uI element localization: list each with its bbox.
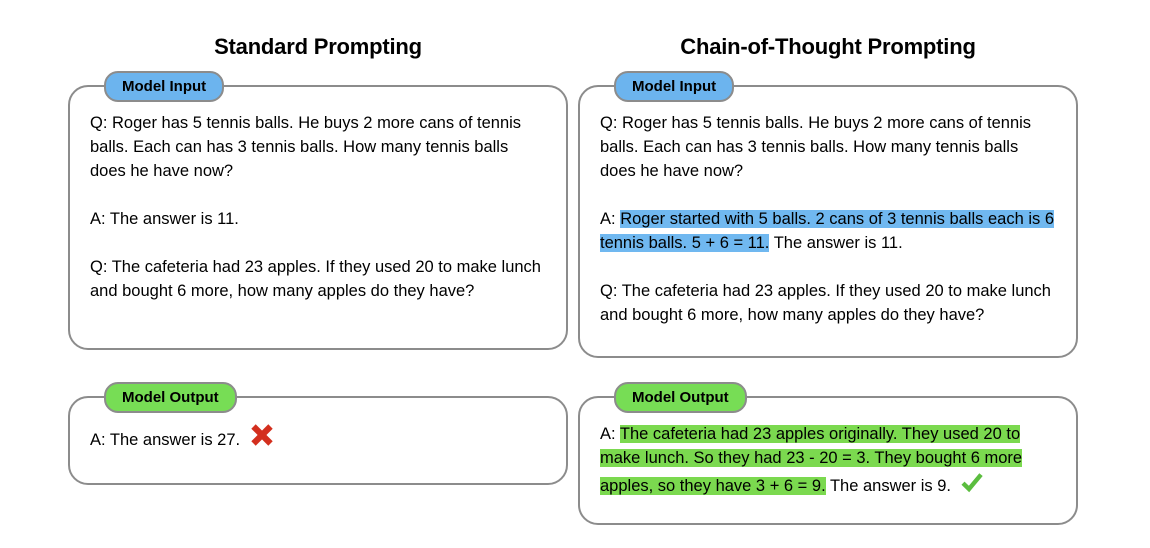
cot-model-input-text: Q: Roger has 5 tennis balls. He buys 2 m… [600,111,1058,327]
cot-input-answer-prefix: A: [600,210,620,228]
standard-model-input-text: Q: Roger has 5 tennis balls. He buys 2 m… [90,111,548,303]
badge-model-output-standard: Model Output [104,382,237,413]
cross-mark-icon [249,422,275,448]
standard-input-question-2: Q: The cafeteria had 23 apples. If they … [90,255,548,303]
standard-output-answer-text: A: The answer is 27. [90,431,240,449]
cot-model-output-card: A: The cafeteria had 23 apples originall… [578,396,1078,525]
standard-input-question-1: Q: Roger has 5 tennis balls. He buys 2 m… [90,111,548,183]
cot-input-question-2: Q: The cafeteria had 23 apples. If they … [600,279,1058,327]
cot-input-question-1: Q: Roger has 5 tennis balls. He buys 2 m… [600,111,1058,183]
cot-model-output-text: A: The cafeteria had 23 apples originall… [600,422,1058,498]
standard-prompting-title: Standard Prompting [68,34,568,60]
standard-model-input-card: Q: Roger has 5 tennis balls. He buys 2 m… [68,85,568,350]
badge-model-output-cot: Model Output [614,382,747,413]
cot-model-input-card: Q: Roger has 5 tennis balls. He buys 2 m… [578,85,1078,358]
standard-output-answer: A: The answer is 27. [90,422,548,452]
standard-input-answer-1: A: The answer is 11. [90,207,548,231]
cot-output-highlight: The cafeteria had 23 apples originally. … [600,425,1022,495]
cot-output-suffix: The answer is 9. [826,477,951,495]
cot-input-answer-1: A: Roger started with 5 balls. 2 cans of… [600,207,1058,255]
cot-output-answer: A: The cafeteria had 23 apples originall… [600,422,1058,498]
badge-model-input-cot: Model Input [614,71,734,102]
cot-output-prefix: A: [600,425,620,443]
badge-model-input-standard: Model Input [104,71,224,102]
cot-input-answer-suffix: The answer is 11. [769,234,902,252]
cot-prompting-figure: Standard Prompting Q: Roger has 5 tennis… [0,0,1150,548]
check-mark-icon [960,470,984,494]
chain-of-thought-prompting-title: Chain-of-Thought Prompting [578,34,1078,60]
standard-model-output-text: A: The answer is 27. [90,422,548,452]
